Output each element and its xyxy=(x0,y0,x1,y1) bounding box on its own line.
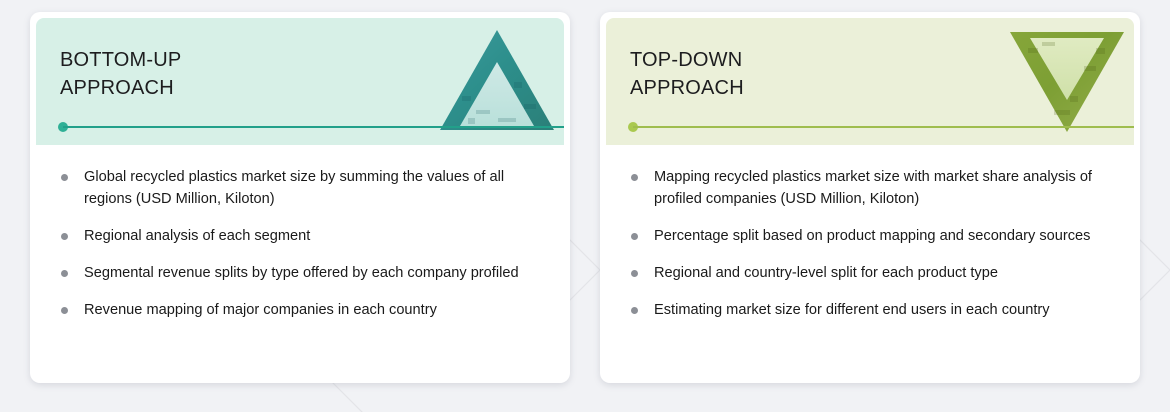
approach-card-bottom-up: BOTTOM-UP APPROACH xyxy=(30,12,570,383)
list-item: Mapping recycled plastics market size wi… xyxy=(622,166,1118,210)
bullet-dot-icon xyxy=(61,307,68,314)
list-item: Segmental revenue splits by type offered… xyxy=(52,262,548,284)
bullet-dot-icon xyxy=(61,270,68,277)
bullet-dot-icon xyxy=(631,307,638,314)
triangle-down-icon xyxy=(1008,26,1126,136)
card-header-top-down: TOP-DOWN APPROACH xyxy=(606,18,1134,145)
accent-line xyxy=(633,126,1134,128)
bullet-dot-icon xyxy=(631,174,638,181)
list-item: Regional analysis of each segment xyxy=(52,225,548,247)
bullet-dot-icon xyxy=(61,233,68,240)
bullet-text: Mapping recycled plastics market size wi… xyxy=(654,169,1092,207)
card-title-bottom-up: BOTTOM-UP APPROACH xyxy=(60,46,181,102)
triangle-up-icon xyxy=(438,26,556,136)
bullet-text: Regional analysis of each segment xyxy=(84,228,310,244)
approach-card-top-down: TOP-DOWN APPROACH xyxy=(600,12,1140,383)
list-item: Percentage split based on product mappin… xyxy=(622,225,1118,247)
list-item: Global recycled plastics market size by … xyxy=(52,166,548,210)
bullet-dot-icon xyxy=(631,233,638,240)
bullet-dot-icon xyxy=(631,270,638,277)
accent-line xyxy=(63,126,564,128)
list-item: Revenue mapping of major companies in ea… xyxy=(52,299,548,321)
bullet-text: Estimating market size for different end… xyxy=(654,302,1050,318)
bullet-text: Revenue mapping of major companies in ea… xyxy=(84,302,437,318)
card-accent-rule-top-down xyxy=(628,126,1134,128)
bullet-text: Global recycled plastics market size by … xyxy=(84,169,504,207)
bullet-list-bottom-up: Global recycled plastics market size by … xyxy=(52,166,548,321)
list-item: Regional and country-level split for eac… xyxy=(622,262,1118,284)
card-accent-rule-bottom-up xyxy=(58,126,564,128)
bullet-text: Regional and country-level split for eac… xyxy=(654,265,998,281)
list-item: Estimating market size for different end… xyxy=(622,299,1118,321)
card-title-top-down: TOP-DOWN APPROACH xyxy=(630,46,744,102)
approach-cards-board: BOTTOM-UP APPROACH xyxy=(0,0,1170,412)
bullet-dot-icon xyxy=(61,174,68,181)
card-header-bottom-up: BOTTOM-UP APPROACH xyxy=(36,18,564,145)
bullet-text: Percentage split based on product mappin… xyxy=(654,228,1090,244)
bullet-list-top-down: Mapping recycled plastics market size wi… xyxy=(622,166,1118,321)
bullet-text: Segmental revenue splits by type offered… xyxy=(84,265,519,281)
